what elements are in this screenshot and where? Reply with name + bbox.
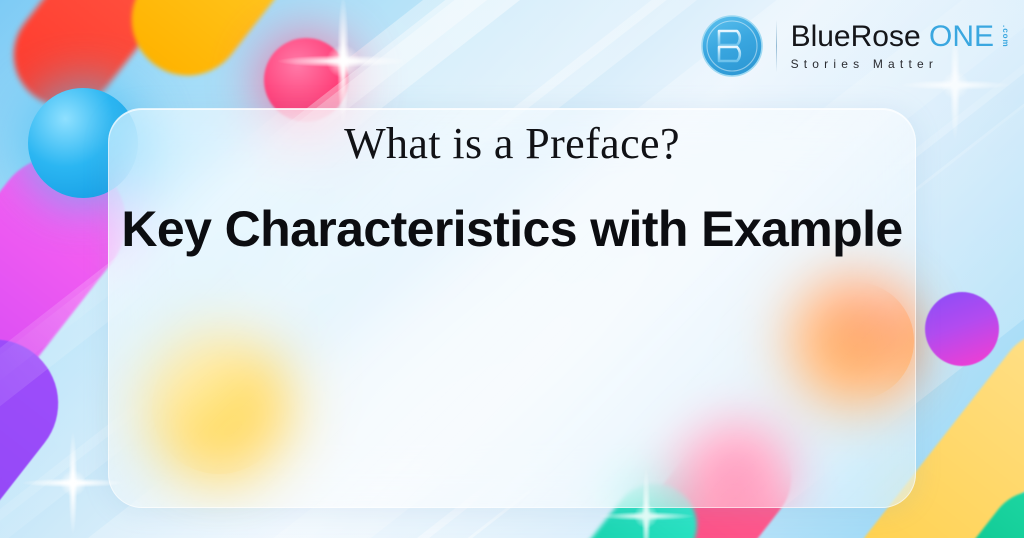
logo-tagline: Stories Matter: [791, 57, 994, 71]
banner-canvas: What is a Preface? Key Characteristics w…: [0, 0, 1024, 538]
bluerose-b-monogram-icon: [700, 14, 764, 78]
page-subtitle: Key Characteristics with Example: [0, 202, 1024, 257]
circle-purple-right: [925, 292, 999, 366]
logo-wordmark-primary: BlueRose: [791, 20, 929, 53]
headline-group: What is a Preface? Key Characteristics w…: [0, 120, 1024, 257]
brand-logo[interactable]: BlueRose ONE .com Stories Matter: [700, 8, 1010, 84]
logo-divider: [776, 20, 777, 72]
page-title: What is a Preface?: [0, 120, 1024, 168]
logo-wordmark-accent: ONE: [929, 20, 994, 53]
logo-text-group: BlueRose ONE .com Stories Matter: [791, 22, 1010, 71]
logo-tld: .com: [1001, 25, 1010, 48]
logo-wordmark: BlueRose ONE: [791, 22, 994, 52]
